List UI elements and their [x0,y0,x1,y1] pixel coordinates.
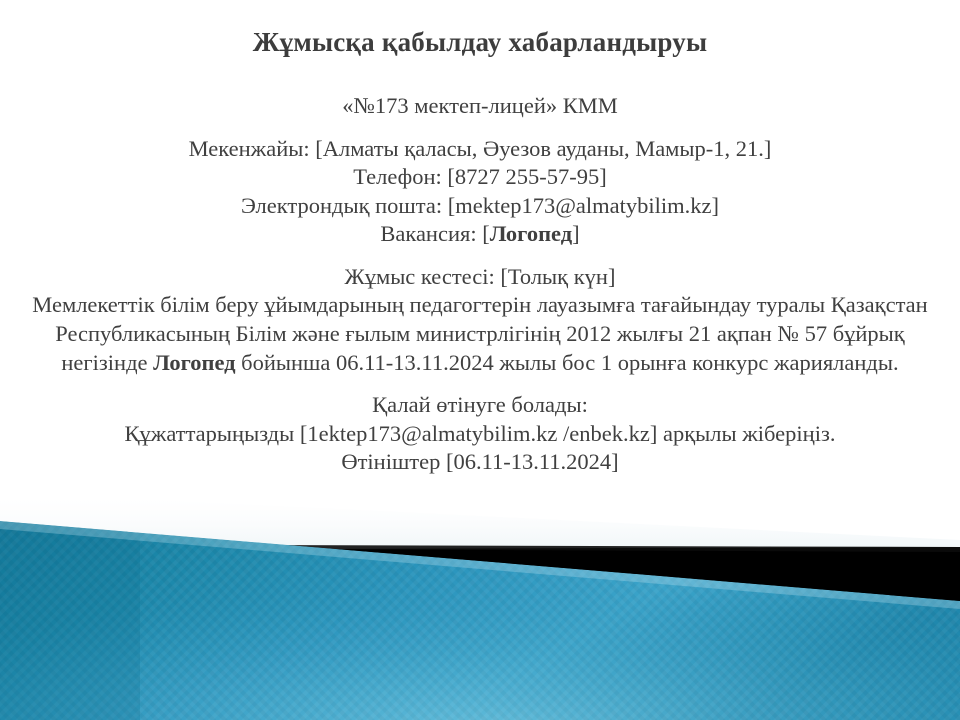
slide-canvas: Жұмысқа қабылдау хабарландыруы «№173 мек… [0,0,960,720]
address-line: Мекенжайы: [Алматы қаласы, Әуезов ауданы… [52,135,908,164]
teal-wedge [0,500,960,720]
page-title: Жұмысқа қабылдау хабарландыруы [0,27,960,58]
slide-content: Жұмысқа қабылдау хабарландыруы «№173 мек… [0,0,960,477]
black-wedge [305,547,960,606]
vacancy-label: Вакансия: [ [380,221,489,246]
vacancy-value: Логопед [490,221,572,246]
vacancy-close-bracket: ] [572,221,580,246]
pale-blue-fade-band [0,492,960,604]
organization-line: «№173 мектеп-лицей» КММ [52,92,908,121]
announcement-body: «№173 мектеп-лицей» КММ Мекенжайы: [Алма… [0,92,960,477]
order-basis-paragraph: Мемлекеттік білім беру ұйымдарының педаг… [28,291,932,377]
email-line: Электрондық пошта: [mektep173@almatybili… [52,192,908,221]
how-to-apply-line: Құжаттарыңызды [1ektep173@almatybilim.kz… [28,420,932,449]
phone-line: Телефон: [8727 255-57-95] [52,163,908,192]
vacancy-line: Вакансия: [Логопед] [52,220,908,249]
schedule-line: Жұмыс кестесі: [Толық күн] [52,263,908,292]
applications-period-line: Өтініштер [06.11-13.11.2024] [52,448,908,477]
order-position: Логопед [153,350,235,375]
how-to-apply-label: Қалай өтінуге болады: [52,391,908,420]
black-wedge-thin-edge [240,545,960,552]
order-text-after: бойынша 06.11-13.11.2024 жылы бос 1 орын… [236,350,899,375]
